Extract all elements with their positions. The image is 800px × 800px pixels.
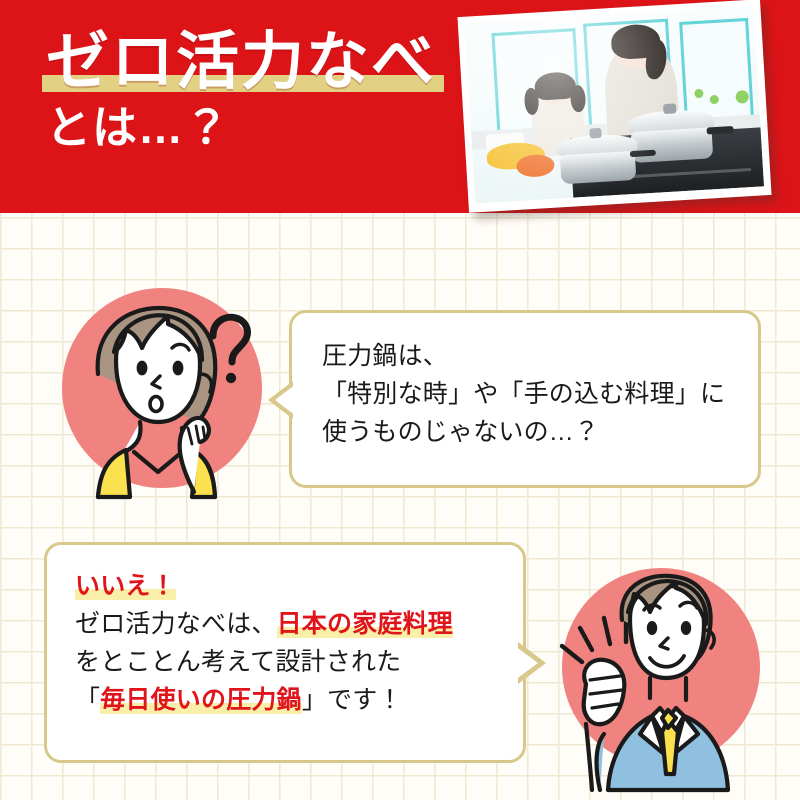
answer-bubble-text: いいえ！ ゼロ活力なべは、日本の家庭料理 をとことん考えて設計された 「毎日使い… xyxy=(75,567,505,719)
page-title: ゼロ活力なべ とは…？ xyxy=(46,28,436,153)
question-bubble-text: 圧力鍋は、 「特別な時」や「手の込む料理」に 使うものじゃないの…？ xyxy=(322,337,740,451)
question-bubble-tail-fill xyxy=(275,384,296,416)
kitchen-photo-frame xyxy=(457,0,771,213)
answer-bubble: いいえ！ ゼロ活力なべは、日本の家庭料理 をとことん考えて設計された 「毎日使い… xyxy=(44,542,526,763)
photo-light-haze xyxy=(465,7,764,204)
man-figure xyxy=(530,558,770,790)
answer-emphasis-iie: いいえ！ xyxy=(75,572,176,600)
question-mark-icon xyxy=(213,317,247,383)
answer-line-3: をとことん考えて設計された xyxy=(75,643,505,681)
emphasis-lines-icon xyxy=(562,618,626,662)
landing-page-section: ゼロ活力なべ とは…？ xyxy=(0,0,800,800)
answer-bubble-tail-fill xyxy=(515,646,538,680)
question-bubble: 圧力鍋は、 「特別な時」や「手の込む料理」に 使うものじゃないの…？ xyxy=(289,310,761,488)
woman-figure xyxy=(42,282,278,497)
title-sub-text: とは…？ xyxy=(46,103,436,153)
man-illustration xyxy=(530,558,770,790)
answer-quote-close: 」です！ xyxy=(302,686,403,714)
title-main-wrap: ゼロ活力なべ xyxy=(46,28,436,96)
answer-line-2-plain: ゼロ活力なべは、 xyxy=(75,610,277,638)
answer-line-4: 「毎日使いの圧力鍋」です！ xyxy=(75,681,505,719)
question-line-3: 使うものじゃないの…？ xyxy=(322,413,740,451)
answer-emphasis-everyday-pressure-cooker: 毎日使いの圧力鍋 xyxy=(100,686,302,714)
question-line-1: 圧力鍋は、 xyxy=(322,337,740,375)
question-line-2: 「特別な時」や「手の込む料理」に xyxy=(322,375,740,413)
woman-illustration xyxy=(42,282,278,497)
answer-quote-open: 「 xyxy=(75,686,100,714)
kitchen-photo xyxy=(465,7,764,204)
answer-emphasis-japanese-home-cooking: 日本の家庭料理 xyxy=(277,610,453,638)
answer-line-2: ゼロ活力なべは、日本の家庭料理 xyxy=(75,605,505,643)
answer-line-1: いいえ！ xyxy=(75,567,505,605)
title-main-text: ゼロ活力なべ xyxy=(46,28,436,96)
